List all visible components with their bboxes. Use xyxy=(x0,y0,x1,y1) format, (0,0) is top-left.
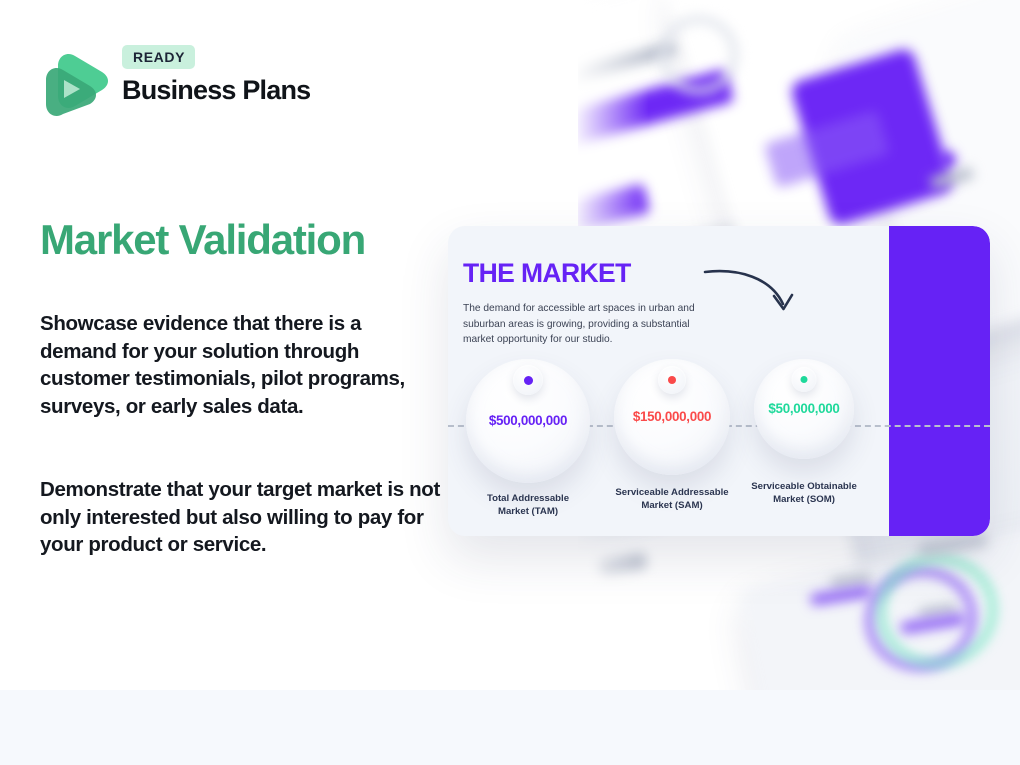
circle-ball: $500,000,000 xyxy=(466,359,590,483)
market-label: Total Addressable Market (TAM) xyxy=(464,493,592,518)
market-value: $150,000,000 xyxy=(614,409,730,424)
market-slide-card: THE MARKET The demand for accessible art… xyxy=(448,226,990,536)
blurred-text-chip xyxy=(578,69,734,150)
brand-text: READY Business Plans xyxy=(122,45,310,106)
market-label: Serviceable Addressable Market (SAM) xyxy=(611,487,733,512)
play-double-triangle-icon xyxy=(40,40,110,118)
market-dot-icon xyxy=(792,367,817,392)
dot-fill xyxy=(801,376,808,383)
market-label-line1: Serviceable Obtainable xyxy=(751,481,857,492)
blurred-text-chip xyxy=(917,603,958,619)
market-circle-sam: $150,000,000 Serviceable Addressable Mar… xyxy=(611,359,733,475)
body-paragraph-2: Demonstrate that your target market is n… xyxy=(40,476,440,559)
blurred-ring xyxy=(651,7,747,103)
circle-ball: $50,000,000 xyxy=(754,359,854,459)
blurred-text-chip xyxy=(764,110,890,188)
bottom-strip xyxy=(0,690,1020,765)
page-title: Market Validation xyxy=(40,216,460,264)
blurred-ring xyxy=(858,559,984,679)
market-dot-icon xyxy=(513,365,543,395)
blurred-text-chip xyxy=(900,613,967,634)
blurred-text-chip xyxy=(789,47,955,228)
blurred-text-chip xyxy=(810,585,873,606)
market-circles: $500,000,000 Total Addressable Market (T… xyxy=(448,226,990,536)
brand-name: Business Plans xyxy=(122,75,310,106)
dot-fill xyxy=(668,376,676,384)
market-label-line2: Market (SAM) xyxy=(641,500,702,511)
blurred-ring xyxy=(869,547,1004,676)
market-value: $50,000,000 xyxy=(754,401,854,416)
market-circle-som: $50,000,000 Serviceable Obtainable Marke… xyxy=(748,359,860,459)
blurred-text-chip xyxy=(578,41,678,86)
body-paragraph-1: Showcase evidence that there is a demand… xyxy=(40,310,440,420)
ready-badge: READY xyxy=(122,45,195,69)
market-circle-tam: $500,000,000 Total Addressable Market (T… xyxy=(464,359,592,483)
blurred-text-chip xyxy=(597,552,647,575)
market-dot-icon xyxy=(658,366,686,394)
blurred-text-chip xyxy=(936,150,958,170)
market-label-line2: Market (TAM) xyxy=(498,506,558,517)
slide-page: READY Business Plans Market Validation S… xyxy=(0,0,1020,765)
brand-logo-block: READY Business Plans xyxy=(40,40,370,122)
blurred-text-chip xyxy=(829,573,872,589)
dot-fill xyxy=(524,376,533,385)
blurred-text-chip xyxy=(929,167,975,190)
circle-ball: $150,000,000 xyxy=(614,359,730,475)
market-label-line2: Market (SOM) xyxy=(773,494,835,505)
blurred-text-chip xyxy=(917,533,988,558)
market-label-line1: Serviceable Addressable xyxy=(615,487,728,498)
market-label-line1: Total Addressable xyxy=(487,493,569,504)
market-value: $500,000,000 xyxy=(466,413,590,428)
card-content: THE MARKET The demand for accessible art… xyxy=(448,226,990,536)
market-label: Serviceable Obtainable Market (SOM) xyxy=(748,481,860,506)
